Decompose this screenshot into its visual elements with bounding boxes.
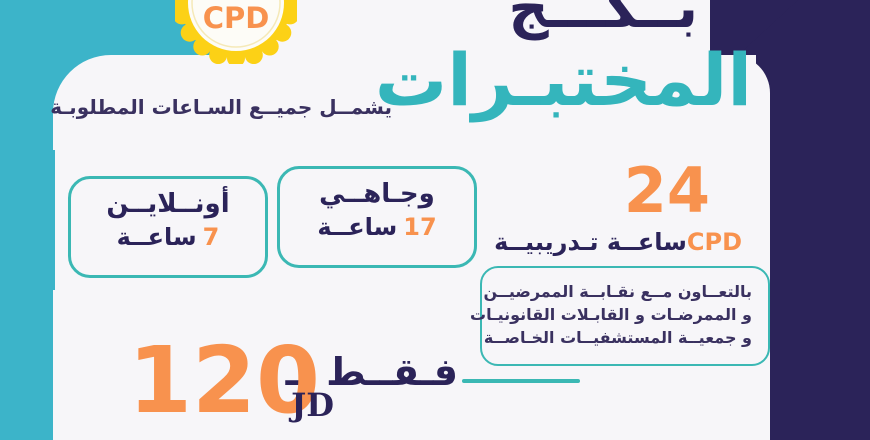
mode-online-hours-number: 7: [203, 223, 220, 251]
mode-in-person-hours: 17ساعــة: [280, 213, 474, 241]
mode-in-person-title: وجـاهــي: [280, 179, 474, 209]
collaboration-line-1: بالتعــاون مــع نقـابــة الممرضيــن: [498, 280, 752, 303]
pill-left-clip-mask: [0, 150, 55, 290]
poster-content: بــكـــج المختبـرات: [0, 0, 870, 440]
mode-online-hours: 7ساعــة: [71, 223, 265, 251]
collaboration-box: بالتعــاون مــع نقـابــة الممرضيــن و ال…: [480, 266, 770, 366]
mode-in-person-hours-unit: ساعــة: [317, 213, 397, 241]
collaboration-line-2: و الممرضـات و القابـلات القانونيـات: [498, 303, 752, 326]
headline-line-2: المختبـرات: [375, 38, 752, 122]
training-hours-caption: CPDساعــة تـدريبيــة: [494, 228, 748, 256]
headline-line-1: بــكـــج: [508, 0, 698, 41]
cpd-badge-label: CPD: [175, 0, 297, 64]
mode-pill-in-person: وجـاهــي 17ساعــة: [277, 166, 477, 268]
mode-pill-online: أونــلايــن 7ساعــة: [68, 176, 268, 278]
collaboration-line-3: و جمعيــة المستشفيــات الخـاصــة: [498, 326, 752, 349]
mode-in-person-hours-number: 17: [403, 213, 436, 241]
mode-online-title: أونــلايــن: [71, 189, 265, 219]
training-hours-caption-text: ساعــة تـدريبيــة: [494, 228, 687, 256]
subtitle-text: يشمــل جميــع السـاعات المطلوبـة: [50, 95, 392, 119]
price-divider: [462, 379, 580, 383]
price-currency: JD: [291, 386, 334, 424]
promo-poster: بــكـــج المختبـرات: [0, 0, 870, 440]
cpd-rosette-badge: CPD: [175, 0, 297, 64]
training-hours-number: 24: [624, 160, 710, 222]
mode-online-hours-unit: ساعــة: [117, 223, 197, 251]
training-hours-cpd-tag: CPD: [687, 228, 742, 256]
